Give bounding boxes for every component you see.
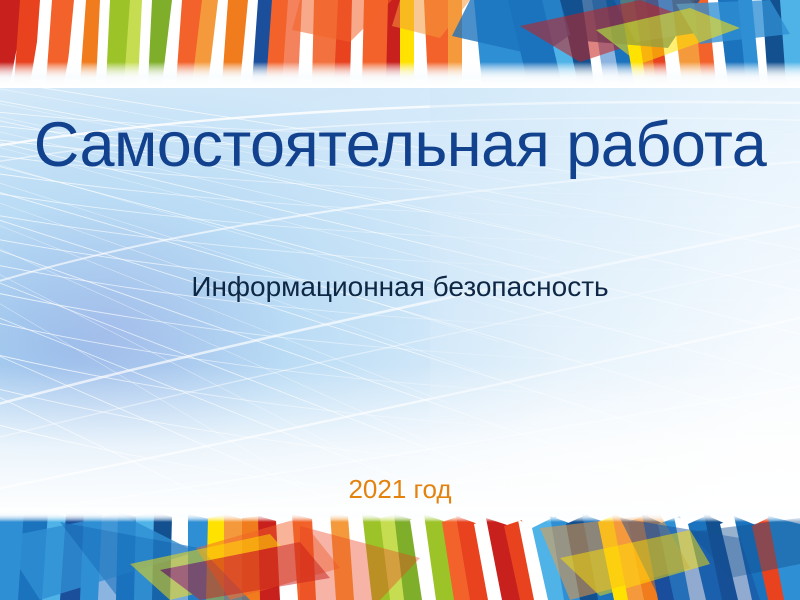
top-band-graphic bbox=[0, 0, 800, 88]
bottom-band-graphic bbox=[0, 508, 800, 600]
slide-subtitle: Информационная безопасность bbox=[0, 270, 800, 304]
top-decorative-band bbox=[0, 0, 800, 88]
presentation-slide: Самостоятельная работа Информационная бе… bbox=[0, 0, 800, 600]
slide-year: 2021 год bbox=[0, 474, 800, 505]
slide-title: Самостоятельная работа bbox=[0, 112, 800, 178]
bottom-decorative-band bbox=[0, 508, 800, 600]
